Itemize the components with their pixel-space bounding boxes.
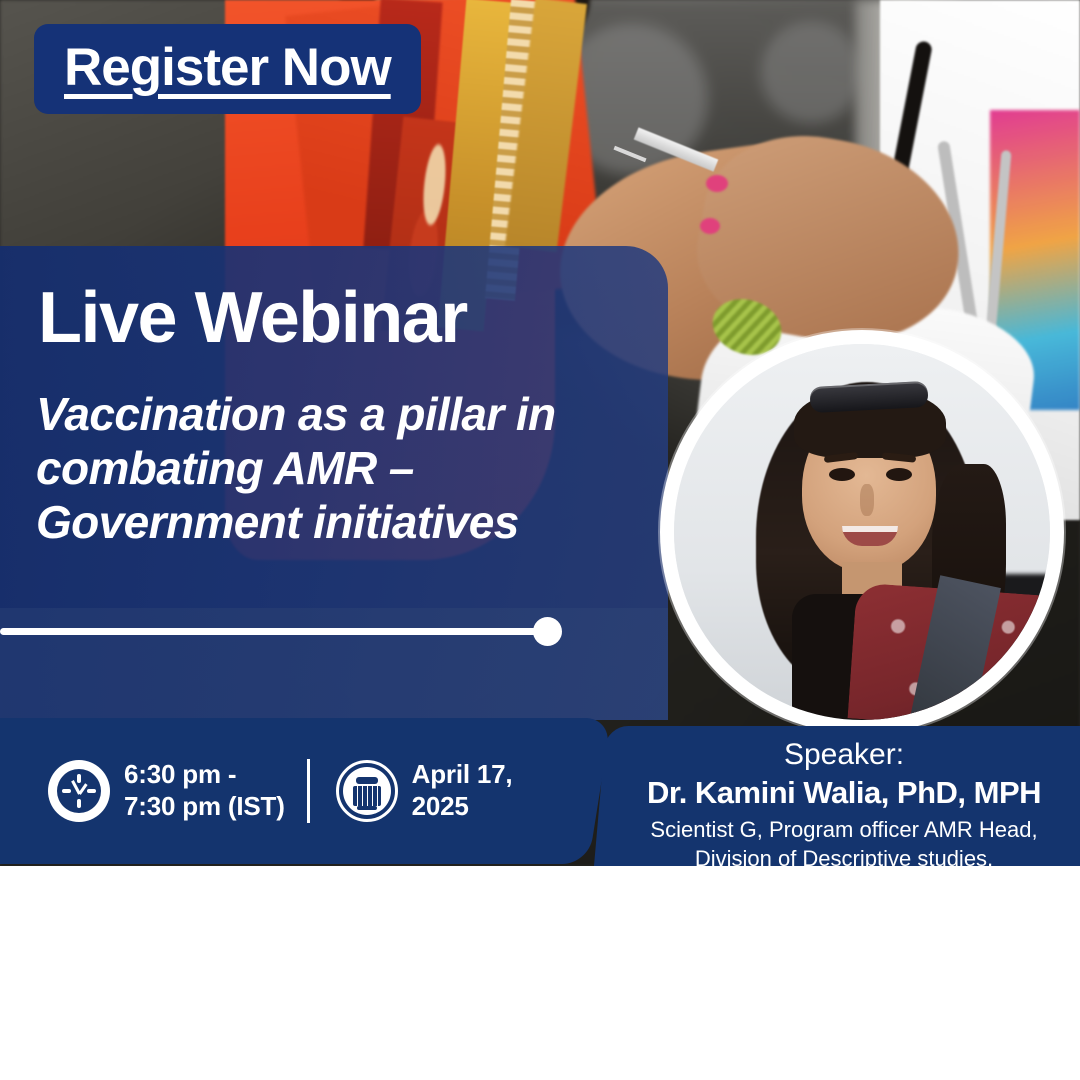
photo-nail-b: [700, 218, 720, 234]
divider-dot: [533, 617, 562, 646]
schedule-time-block: 6:30 pm - 7:30 pm (IST): [0, 759, 285, 822]
schedule-date-text: April 17, 2025: [412, 759, 513, 822]
avatar: [674, 344, 1050, 720]
speaker-label: Speaker:: [604, 736, 1080, 774]
clock-icon: [48, 760, 110, 822]
schedule-time-text: 6:30 pm - 7:30 pm (IST): [124, 759, 285, 822]
divider-line: [0, 628, 538, 635]
register-now-button[interactable]: Register Now: [34, 24, 421, 114]
page-title: Live Webinar: [38, 277, 467, 359]
speaker-portrait: [660, 330, 1064, 734]
divider-panel: [0, 608, 668, 720]
logo-bar: NOT TO BE MINISTERED UNTO BUT TO MINISTE…: [0, 866, 1080, 1080]
photo-nail-a: [706, 175, 728, 192]
calendar-icon: [336, 760, 398, 822]
webinar-subtitle: Vaccination as a pillar in combating AMR…: [36, 388, 556, 549]
webinar-poster: Register Now Live Webinar Vaccination as…: [0, 0, 1080, 1080]
speaker-name: Dr. Kamini Walia, PhD, MPH: [604, 774, 1080, 813]
schedule-date-block: April 17, 2025: [310, 759, 513, 822]
schedule-content: 6:30 pm - 7:30 pm (IST) April 17, 2025: [0, 718, 600, 864]
